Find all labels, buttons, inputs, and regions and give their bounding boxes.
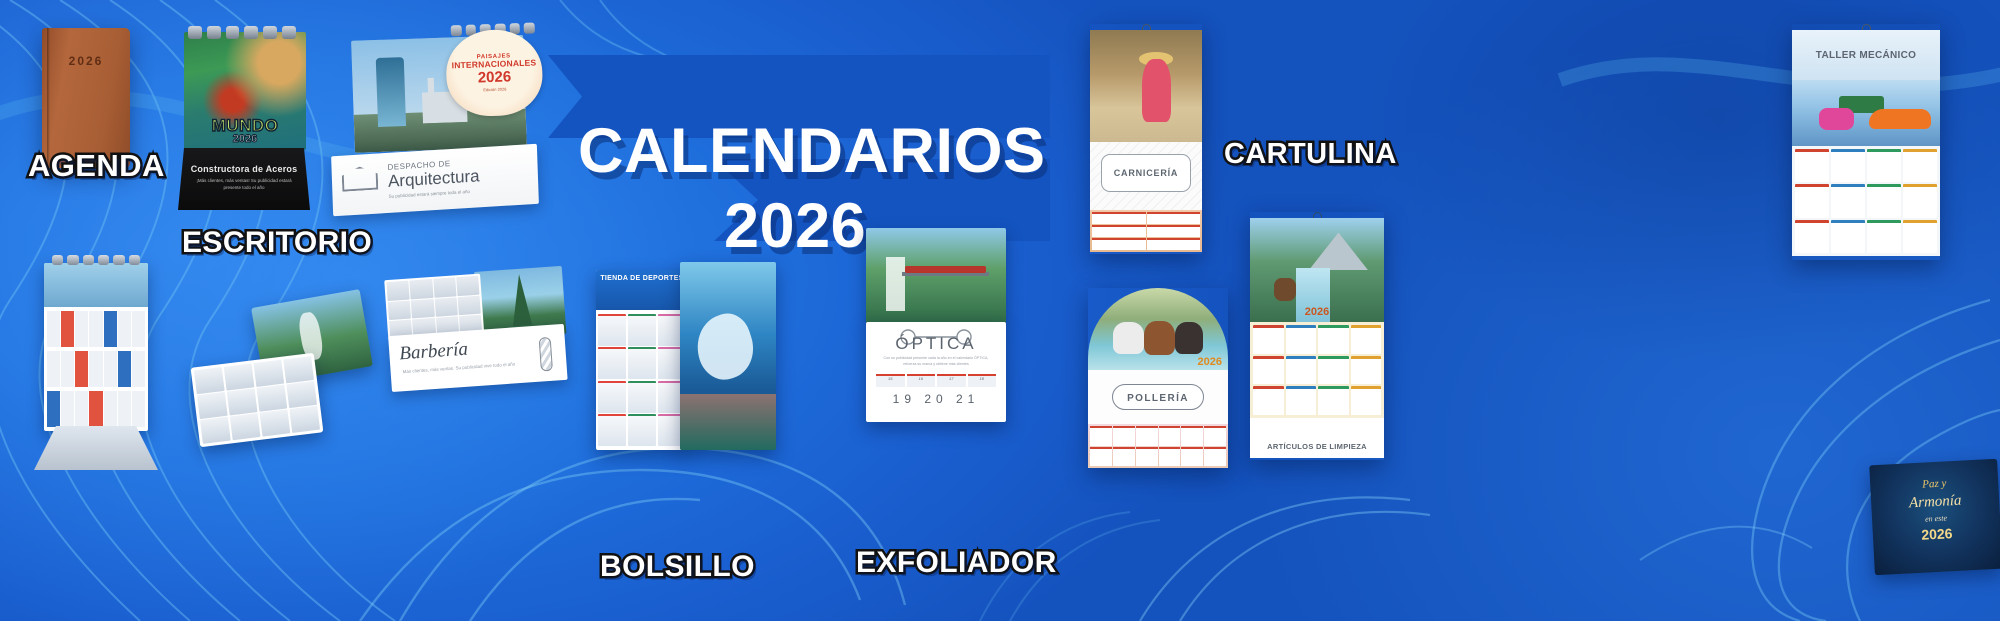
product-agenda[interactable]: 2026 bbox=[42, 28, 130, 168]
badge-year: 2026 bbox=[478, 69, 512, 85]
product-carniceria-wall[interactable]: CARNICERÍA bbox=[1090, 24, 1202, 254]
barber-pole-icon bbox=[539, 337, 553, 372]
exfoliador-body: ÓPTICA Con su publicidad presente cada l… bbox=[866, 322, 1006, 422]
carniceria-month-grid bbox=[1090, 210, 1202, 252]
mundo-animal-year: 2026 bbox=[184, 133, 306, 145]
badge-sub: Edición 2026 bbox=[483, 86, 506, 92]
month-grid-row bbox=[47, 351, 145, 387]
agenda-embossed-year: 2026 bbox=[42, 54, 130, 68]
reef-graphic bbox=[680, 394, 776, 450]
product-paz-armonia[interactable]: Paz y Armonía en este 2026 bbox=[1869, 459, 2000, 576]
carniceria-photo bbox=[1090, 30, 1202, 142]
limpieza-imprint: ARTÍCULOS DE LIMPIEZA bbox=[1250, 418, 1384, 458]
product-bolsillo-pocket[interactable]: TIENDA DE DEPORTES bbox=[596, 262, 776, 454]
taller-header: TALLER MECÁNICO bbox=[1792, 30, 1940, 80]
polleria-month-grid bbox=[1088, 424, 1228, 468]
optica-title: ÓPTICA bbox=[866, 334, 1006, 354]
banner-title-block: CALENDARIOS 2026 bbox=[548, 55, 1108, 225]
card-line2: Arquitectura bbox=[388, 166, 480, 192]
barberia-imprint-card: Barbería Más clientes, más ventas. Su pu… bbox=[388, 324, 567, 392]
category-label-escritorio: ESCRITORIO bbox=[182, 228, 372, 258]
category-label-cartulina: CARTULINA bbox=[1224, 140, 1397, 169]
paz-armonia-card: Paz y Armonía en este 2026 bbox=[1869, 459, 2000, 576]
bolsillo-card-front: TIENDA DE DEPORTES bbox=[596, 270, 688, 450]
taller-month-grid bbox=[1792, 146, 1940, 256]
category-label-exfoliador: EXFOLIADOR bbox=[856, 548, 1057, 578]
paz-year: 2026 bbox=[1873, 523, 2000, 546]
day-cell: 17 bbox=[937, 374, 966, 387]
optica-sub: Con su publicidad presente cada la año e… bbox=[866, 356, 1006, 368]
mundo-animal-imprint-sub: ¡Más clientes, más ventas! Su publicidad… bbox=[178, 178, 310, 192]
desk-stand-panel bbox=[44, 263, 148, 431]
limpieza-title: ARTÍCULOS DE LIMPIEZA bbox=[1267, 442, 1367, 451]
bolsillo-month-grid bbox=[598, 314, 686, 446]
day-cell: 18 bbox=[968, 374, 997, 387]
mundo-animal-base: Constructora de Aceros ¡Más clientes, má… bbox=[178, 148, 310, 210]
exfoliador-day-strip: 15 16 17 18 bbox=[876, 374, 996, 387]
product-mundo-animal-desk[interactable]: MUNDO 2026 Constructora de Aceros ¡Más c… bbox=[178, 22, 310, 212]
limpieza-year: 2026 bbox=[1250, 306, 1384, 318]
product-desk-calendar-pair[interactable] bbox=[195, 298, 373, 448]
page-title: CALENDARIOS bbox=[578, 120, 1138, 183]
taller-title: TALLER MECÁNICO bbox=[1816, 50, 1916, 61]
desk-calendar-grid bbox=[191, 353, 324, 448]
spiral-binding-icon bbox=[188, 26, 296, 39]
category-label-bolsillo: BOLSILLO bbox=[600, 552, 755, 582]
product-articulos-limpieza-wall[interactable]: 2026 ARTÍCULOS DE LIMPIEZA bbox=[1250, 212, 1384, 460]
bolsillo-card-dolphin bbox=[680, 262, 776, 450]
polleria-title: POLLERÍA bbox=[1127, 393, 1189, 404]
limpieza-month-grid bbox=[1250, 322, 1384, 418]
carniceria-title: CARNICERÍA bbox=[1114, 168, 1179, 178]
arquitectura-badge: PAISAJES INTERNACIONALES 2026 Edición 20… bbox=[445, 28, 544, 117]
bolsillo-header-text: TIENDA DE DEPORTES bbox=[596, 275, 688, 282]
building-icon bbox=[342, 166, 379, 192]
arquitectura-imprint-card: DESPACHO DE Arquitectura Su publicidad e… bbox=[331, 144, 539, 217]
desk-stand-photo bbox=[44, 263, 148, 307]
product-barberia-desk[interactable]: Barbería Más clientes, más ventas. Su pu… bbox=[384, 266, 568, 396]
category-label-agenda: AGENDA bbox=[28, 150, 165, 181]
paz-line1: Paz y bbox=[1870, 475, 1998, 494]
month-grid-row bbox=[47, 311, 145, 347]
product-polleria-wall[interactable]: 2026 POLLERÍA bbox=[1088, 288, 1228, 468]
exfoliador-photo bbox=[866, 228, 1006, 324]
day-cell: 16 bbox=[907, 374, 936, 387]
spiral-binding-icon bbox=[52, 255, 140, 265]
day-cell: 15 bbox=[876, 374, 905, 387]
banner-canvas: CALENDARIOS 2026 2026 AGENDA MUNDO 2026 … bbox=[0, 0, 2000, 621]
bolsillo-header: TIENDA DE DEPORTES bbox=[596, 270, 688, 310]
product-desk-stand-calendar[interactable] bbox=[30, 255, 162, 470]
barberia-title: Barbería bbox=[399, 339, 469, 366]
product-arquitectura-desk[interactable]: PAISAJES INTERNACIONALES 2026 Edición 20… bbox=[327, 26, 543, 218]
mundo-animal-title-line1: MUNDO bbox=[184, 118, 306, 134]
carniceria-imprint: CARNICERÍA bbox=[1090, 142, 1202, 210]
polleria-imprint: POLLERÍA bbox=[1088, 370, 1228, 424]
mundo-animal-photo: MUNDO 2026 bbox=[184, 32, 306, 150]
product-taller-mecanico-wall[interactable]: TALLER MECÁNICO bbox=[1792, 24, 1940, 260]
month-grid-row bbox=[47, 391, 145, 427]
exfoliador-big-days: 19 20 21 bbox=[866, 392, 1006, 406]
desk-stand-leg bbox=[34, 426, 158, 470]
polleria-year: 2026 bbox=[1198, 356, 1222, 368]
product-exfoliador[interactable]: ÓPTICA Con su publicidad presente cada l… bbox=[866, 228, 1006, 423]
taller-photo bbox=[1792, 80, 1940, 146]
dolphin-icon bbox=[689, 308, 762, 386]
mundo-animal-imprint: Constructora de Aceros bbox=[178, 164, 310, 174]
